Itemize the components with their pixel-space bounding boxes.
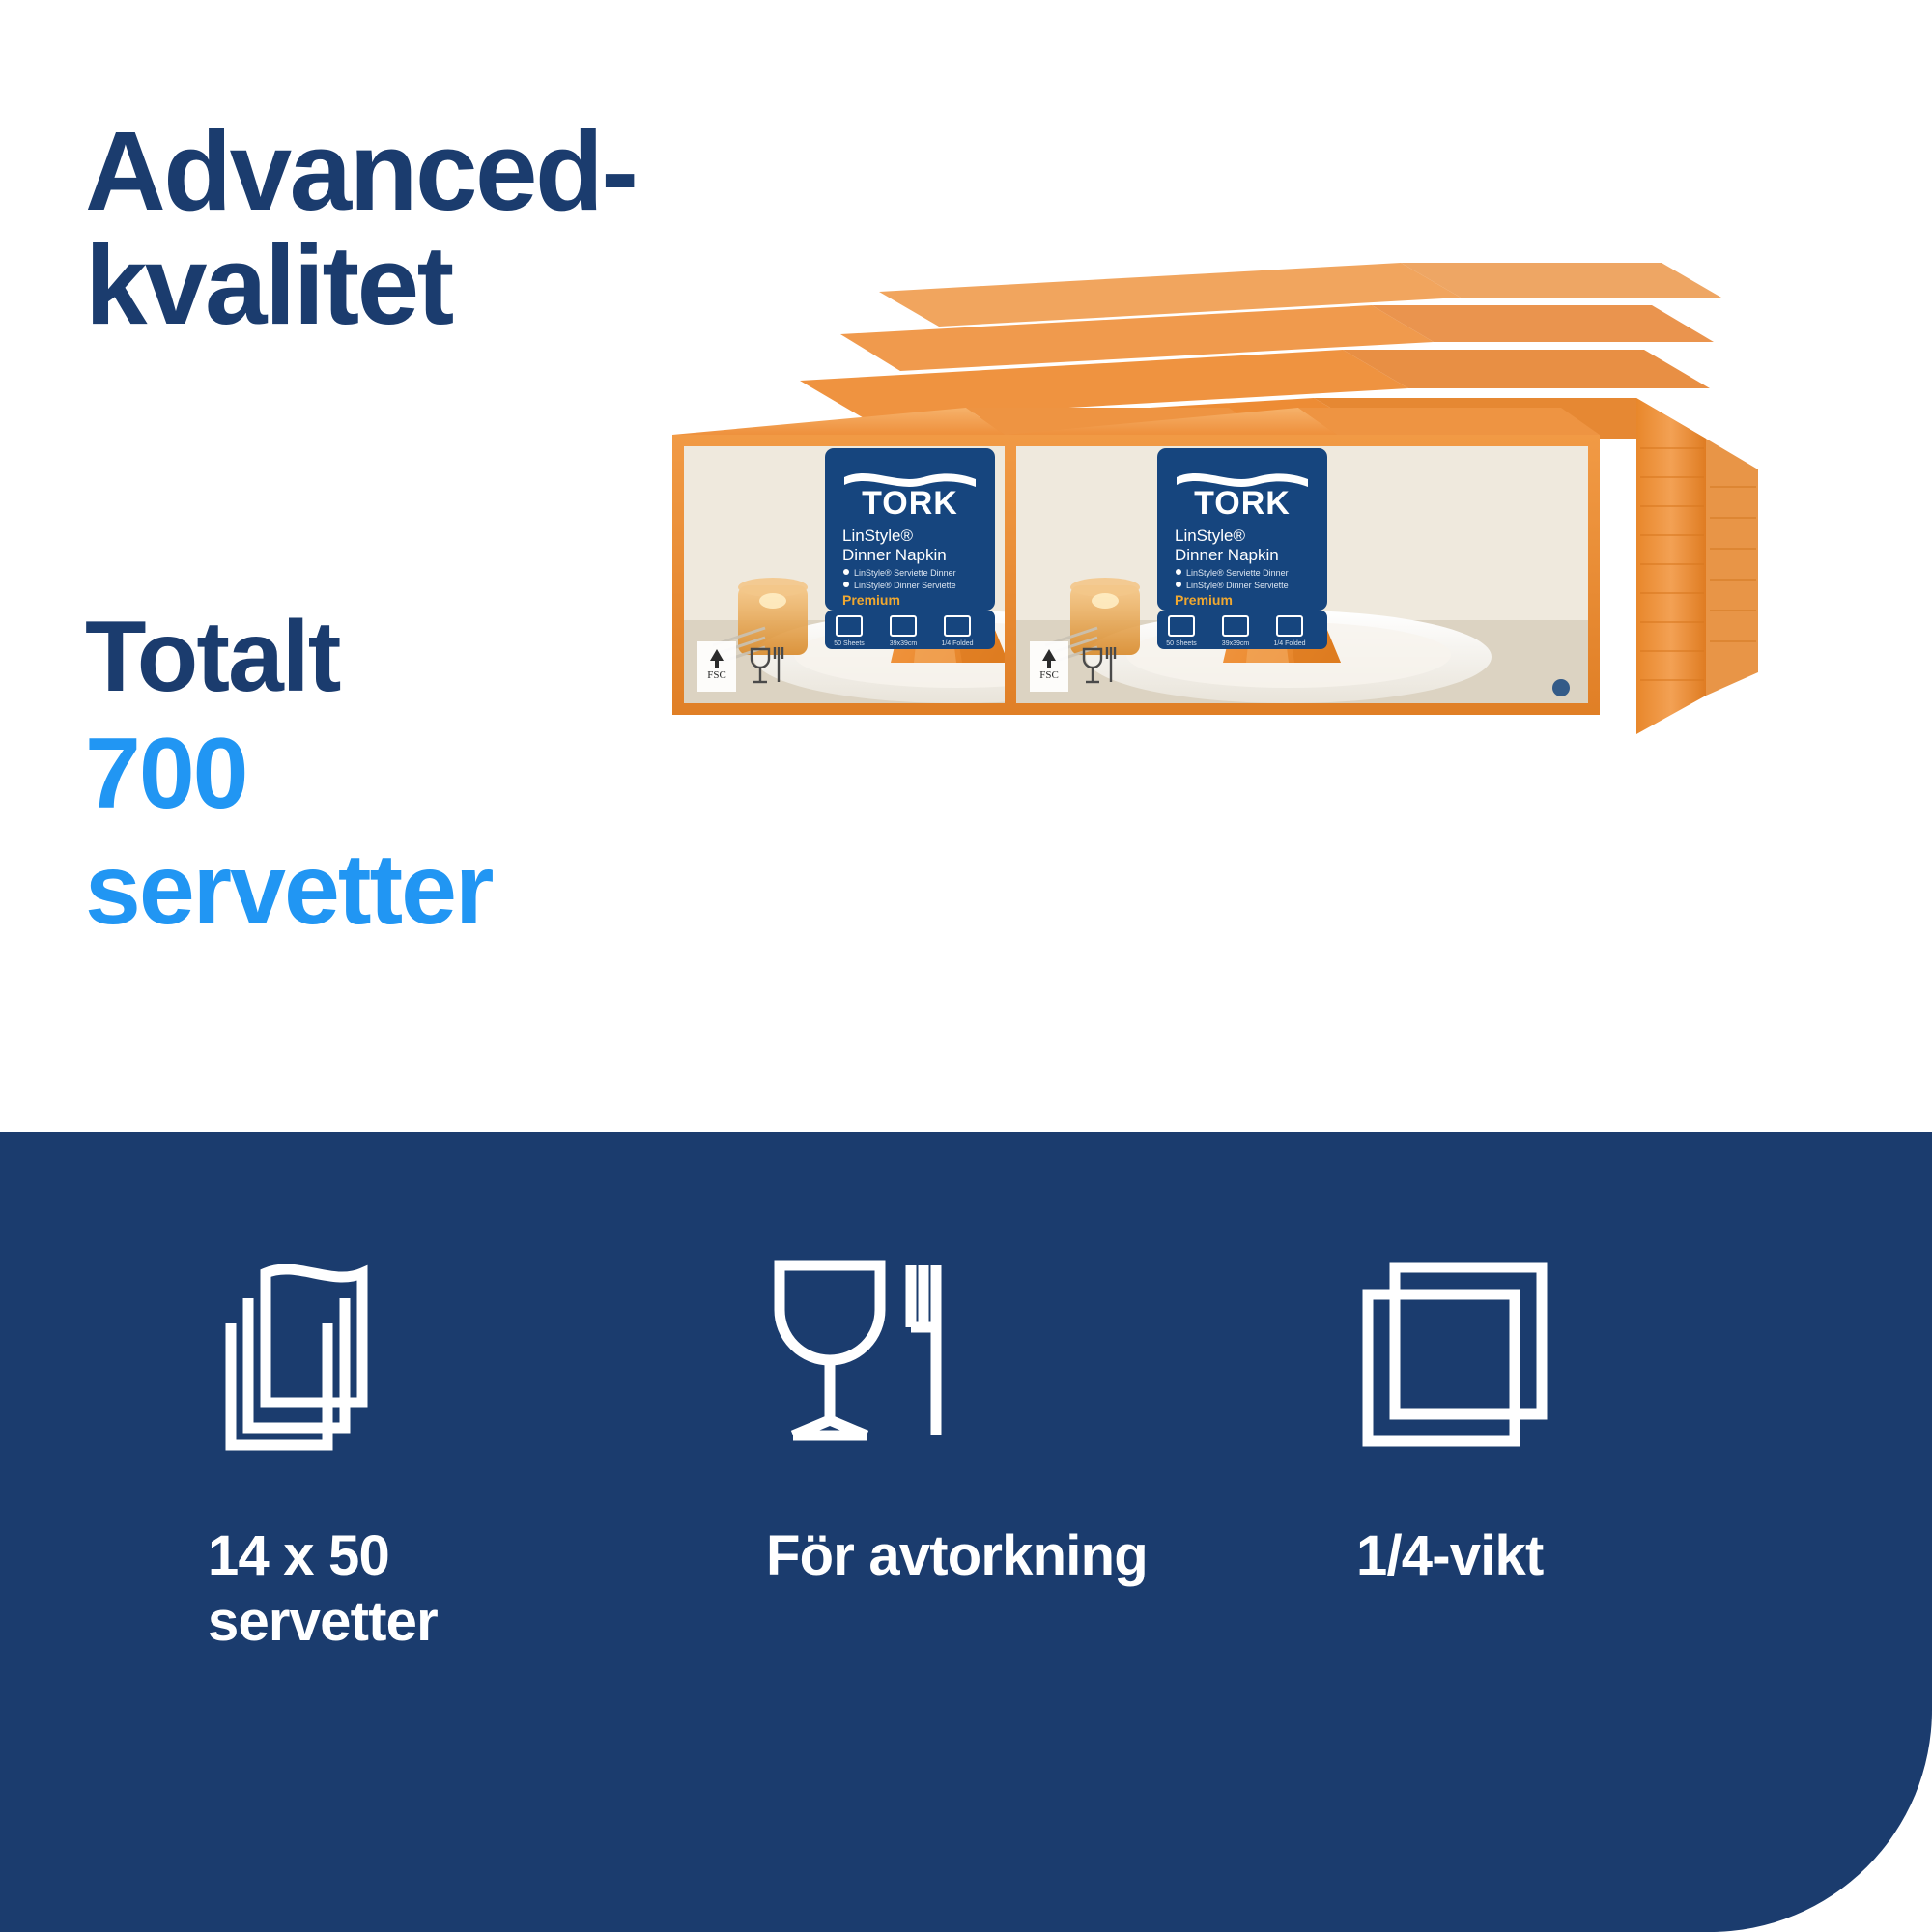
svg-text:LinStyle® Serviette Dinner: LinStyle® Serviette Dinner (1186, 568, 1289, 578)
svg-text:LinStyle® Dinner Serviette: LinStyle® Dinner Serviette (854, 581, 956, 590)
svg-text:Premium: Premium (1175, 592, 1233, 608)
feature-napkin-count: 14 x 50 servetter (0, 1246, 611, 1656)
front-pack-right: TORK LinStyle® Dinner Napkin LinStyle® S… (1005, 408, 1600, 715)
feature-label-napkin-count: 14 x 50 servetter (208, 1523, 438, 1656)
svg-text:50 Sheets: 50 Sheets (834, 640, 865, 647)
feature-fold: 1/4-vikt (1223, 1246, 1834, 1589)
top-white-panel: Advanced- kvalitet Totalt 700 servetter (0, 0, 1932, 1132)
product-marketing-card: Advanced- kvalitet Totalt 700 servetter (0, 0, 1932, 1932)
svg-text:FSC: FSC (707, 669, 726, 681)
pack-spec-strip-right: 50 Sheets 39x39cm 1/4 Folded (1157, 611, 1327, 649)
fsc-icon-left: FSC (697, 641, 736, 692)
glass-fork-icon (766, 1246, 974, 1463)
svg-text:FSC: FSC (1039, 669, 1059, 681)
svg-text:39x39cm: 39x39cm (890, 640, 918, 647)
quarter-fold-icon (1356, 1246, 1554, 1463)
feature-row: 14 x 50 servetter (0, 1132, 1932, 1932)
feature-label-fold: 1/4-vikt (1356, 1523, 1544, 1589)
pack-spec-strip-left: 50 Sheets 39x39cm 1/4 Folded (825, 611, 995, 649)
pack-label-right: TORK LinStyle® Dinner Napkin LinStyle® S… (1157, 448, 1327, 611)
svg-text:LinStyle®: LinStyle® (842, 526, 913, 545)
svg-text:LinStyle® Dinner Serviette: LinStyle® Dinner Serviette (1186, 581, 1289, 590)
napkin-pack-stack-illustration: TORK LinStyle® Dinner Napkin LinStyle® S… (638, 241, 1893, 763)
svg-text:TORK: TORK (1194, 485, 1291, 522)
total-unit: servetter (85, 832, 819, 949)
feature-label-usage: För avtorkning (766, 1523, 1148, 1589)
svg-text:39x39cm: 39x39cm (1222, 640, 1250, 647)
fsc-icon-right: FSC (1030, 641, 1068, 692)
svg-text:50 Sheets: 50 Sheets (1166, 640, 1197, 647)
bottom-navy-panel: 14 x 50 servetter (0, 1132, 1932, 1932)
svg-text:Premium: Premium (842, 592, 900, 608)
svg-text:LinStyle®: LinStyle® (1175, 526, 1245, 545)
svg-text:TORK: TORK (862, 485, 958, 522)
svg-text:1/4 Folded: 1/4 Folded (1273, 640, 1305, 647)
svg-text:LinStyle® Serviette Dinner: LinStyle® Serviette Dinner (854, 568, 956, 578)
stack-side-depth (1636, 398, 1758, 734)
pack-label-left: TORK LinStyle® Dinner Napkin LinStyle® S… (825, 448, 995, 611)
svg-text:Dinner Napkin: Dinner Napkin (842, 546, 947, 564)
svg-text:1/4 Folded: 1/4 Folded (941, 640, 973, 647)
feature-usage: För avtorkning (611, 1246, 1223, 1589)
headline-line-1: Advanced- (85, 114, 819, 228)
svg-text:Dinner Napkin: Dinner Napkin (1175, 546, 1279, 564)
product-photo: TORK LinStyle® Dinner Napkin LinStyle® S… (638, 241, 1893, 763)
napkin-stack-icon (208, 1246, 411, 1463)
